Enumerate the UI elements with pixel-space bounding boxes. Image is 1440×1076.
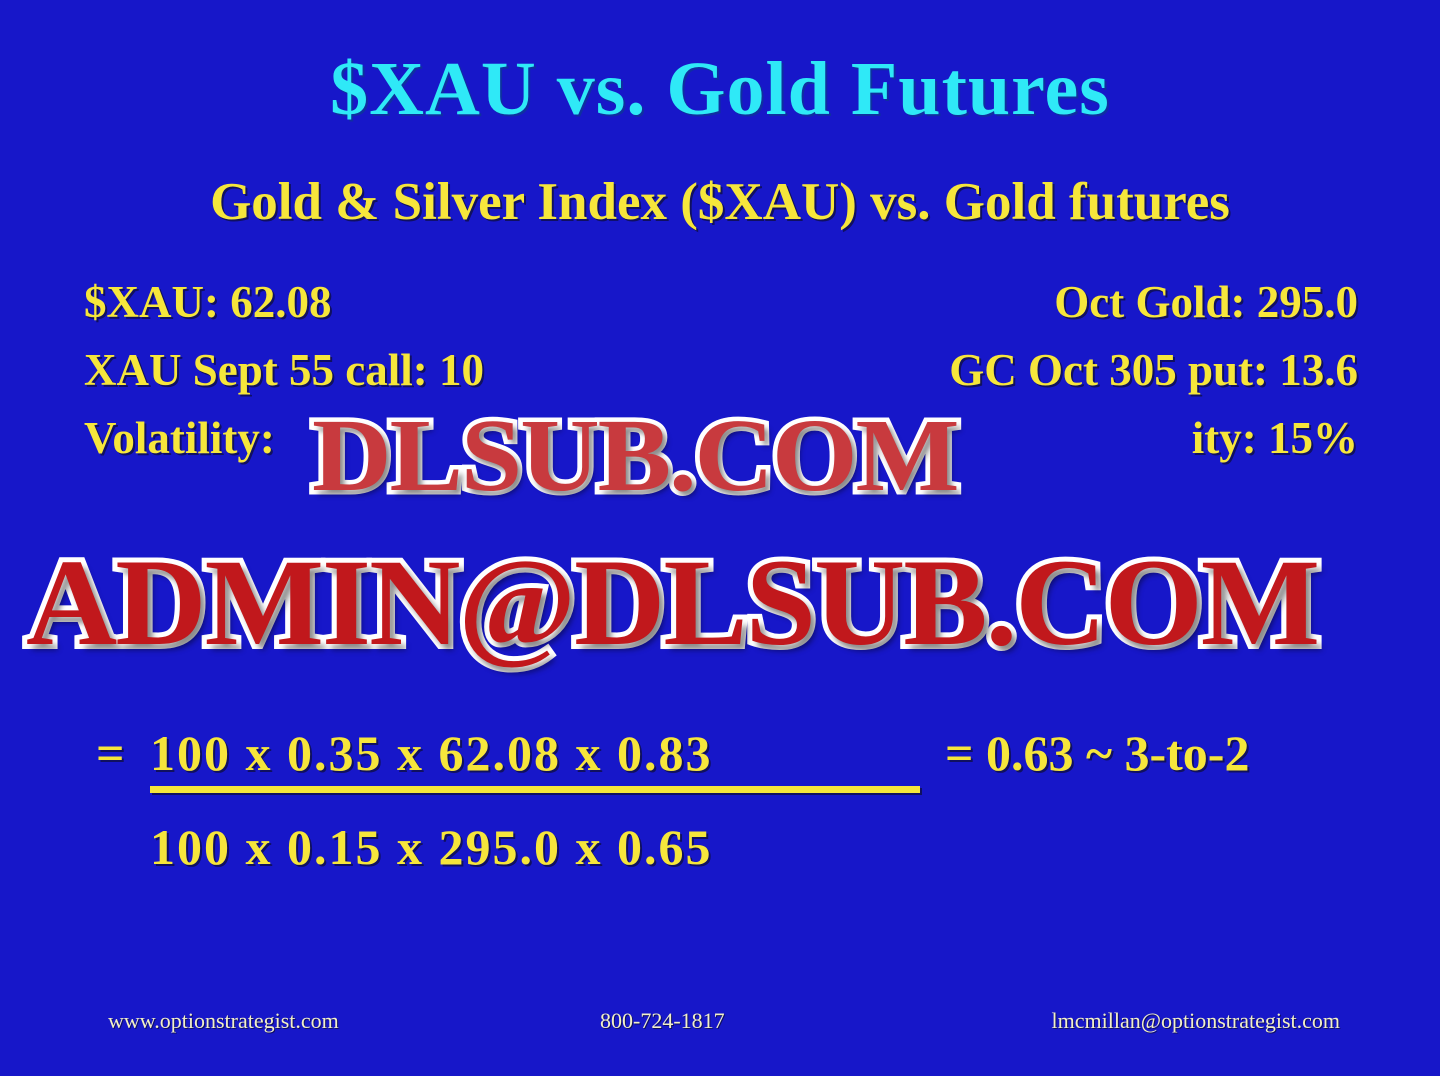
footer-email[interactable]: lmcmillan@optionstrategist.com xyxy=(1052,1008,1341,1034)
page-title: $XAU vs. Gold Futures xyxy=(0,46,1440,133)
formula-numerator: 100 x 0.35 x 62.08 x 0.83 xyxy=(150,724,713,782)
slide-footer: www.optionstrategist.com 800-724-1817 lm… xyxy=(0,1008,1440,1038)
formula-result: = 0.63 ~ 3-to-2 xyxy=(945,724,1249,782)
fraction-bar xyxy=(150,786,920,793)
xau-index-value: $XAU: 62.08 xyxy=(84,276,331,328)
xau-volatility-label: Volatility: xyxy=(84,412,275,464)
footer-phone: 800-724-1817 xyxy=(600,1008,725,1034)
slide-subtitle: Gold & Silver Index ($XAU) vs. Gold futu… xyxy=(0,172,1440,232)
formula-denominator: 100 x 0.15 x 295.0 x 0.65 xyxy=(150,818,713,876)
watermark-admin-dlsub: ADMIN@DLSUB.COM xyxy=(26,532,1318,674)
data-row: XAU Sept 55 call: 10 GC Oct 305 put: 13.… xyxy=(84,344,1358,412)
footer-website[interactable]: www.optionstrategist.com xyxy=(108,1008,339,1034)
xau-call-value: XAU Sept 55 call: 10 xyxy=(84,344,484,396)
presentation-slide: $XAU vs. Gold Futures Gold & Silver Inde… xyxy=(0,0,1440,1076)
data-row: Volatility: ity: 15% xyxy=(84,412,1358,480)
quote-data-grid: $XAU: 62.08 Oct Gold: 295.0 XAU Sept 55 … xyxy=(84,276,1358,480)
gc-put-value: GC Oct 305 put: 13.6 xyxy=(949,344,1358,396)
formula-equals-sign: = xyxy=(96,724,125,782)
gold-volatility-value: ity: 15% xyxy=(1192,412,1358,464)
data-row: $XAU: 62.08 Oct Gold: 295.0 xyxy=(84,276,1358,344)
oct-gold-value: Oct Gold: 295.0 xyxy=(1054,276,1358,328)
